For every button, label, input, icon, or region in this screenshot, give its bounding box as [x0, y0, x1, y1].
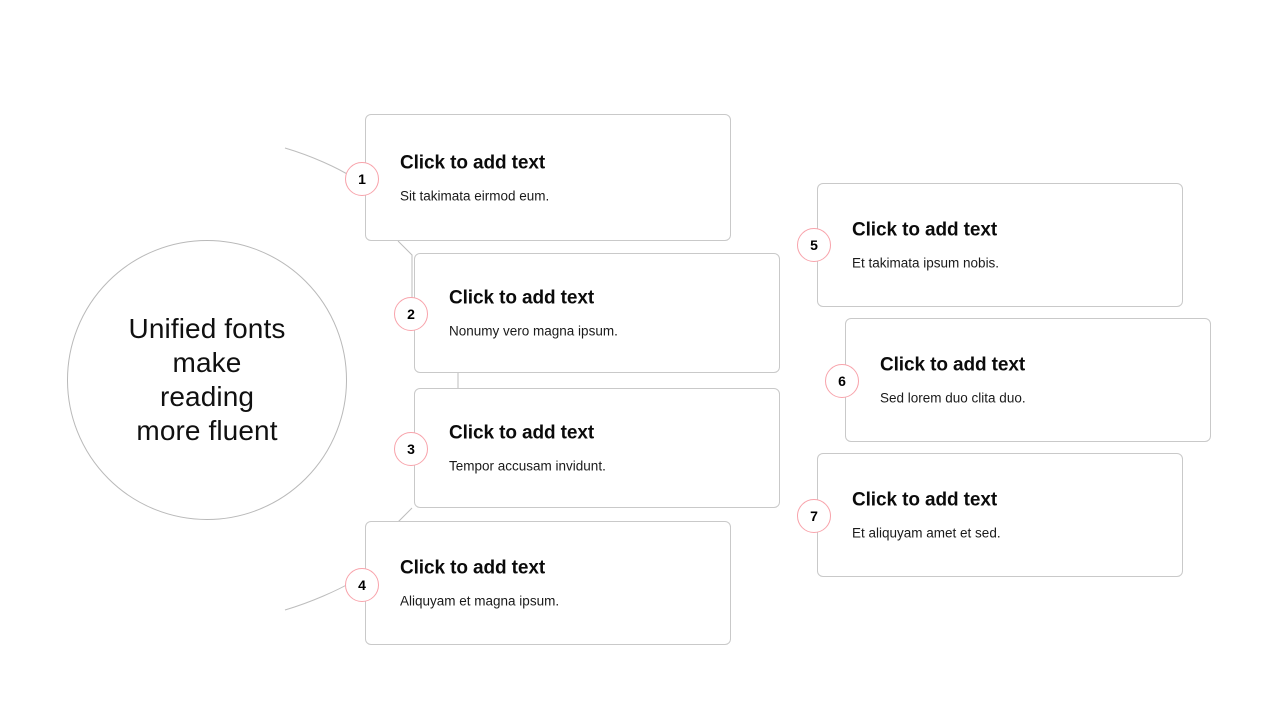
content-card-4[interactable]: Click to add text Aliquyam et magna ipsu…: [365, 521, 731, 645]
step-badge-6-number: 6: [838, 374, 846, 388]
content-card-6-title[interactable]: Click to add text: [880, 354, 1196, 377]
step-badge-6[interactable]: 6: [825, 364, 859, 398]
step-badge-1-number: 1: [358, 172, 366, 186]
content-card-4-body: Click to add text Aliquyam et magna ipsu…: [400, 557, 716, 610]
content-card-2-body: Click to add text Nonumy vero magna ipsu…: [449, 287, 765, 340]
slide-canvas: Unified fonts make reading more fluent C…: [0, 0, 1280, 720]
content-card-7-body: Click to add text Et aliquyam amet et se…: [852, 489, 1168, 542]
card-1-to-card-2: [398, 241, 412, 300]
content-card-5-description[interactable]: Et takimata ipsum nobis.: [852, 255, 1168, 272]
content-card-5-body: Click to add text Et takimata ipsum nobi…: [852, 219, 1168, 272]
step-badge-3[interactable]: 3: [394, 432, 428, 466]
step-badge-7-number: 7: [810, 509, 818, 523]
content-card-2[interactable]: Click to add text Nonumy vero magna ipsu…: [414, 253, 780, 373]
content-card-2-description[interactable]: Nonumy vero magna ipsum.: [449, 323, 765, 340]
content-card-5[interactable]: Click to add text Et takimata ipsum nobi…: [817, 183, 1183, 307]
content-card-3-body: Click to add text Tempor accusam invidun…: [449, 422, 765, 475]
central-statement-circle[interactable]: Unified fonts make reading more fluent: [67, 240, 347, 520]
content-card-7[interactable]: Click to add text Et aliquyam amet et se…: [817, 453, 1183, 577]
hub-to-card-1: [285, 148, 352, 177]
step-badge-3-number: 3: [407, 442, 415, 456]
step-badge-5-number: 5: [810, 238, 818, 252]
step-badge-5[interactable]: 5: [797, 228, 831, 262]
content-card-1-body: Click to add text Sit takimata eirmod eu…: [400, 151, 716, 204]
content-card-5-title[interactable]: Click to add text: [852, 219, 1168, 242]
content-card-6-body: Click to add text Sed lorem duo clita du…: [880, 354, 1196, 407]
central-statement-text: Unified fonts make reading more fluent: [129, 312, 286, 448]
content-card-6-description[interactable]: Sed lorem duo clita duo.: [880, 390, 1196, 407]
content-card-4-title[interactable]: Click to add text: [400, 557, 716, 580]
step-badge-1[interactable]: 1: [345, 162, 379, 196]
content-card-4-description[interactable]: Aliquyam et magna ipsum.: [400, 593, 716, 610]
content-card-1-title[interactable]: Click to add text: [400, 151, 716, 174]
content-card-3-title[interactable]: Click to add text: [449, 422, 765, 445]
step-badge-2[interactable]: 2: [394, 297, 428, 331]
content-card-7-title[interactable]: Click to add text: [852, 489, 1168, 512]
content-card-3-description[interactable]: Tempor accusam invidunt.: [449, 458, 765, 475]
step-badge-4-number: 4: [358, 578, 366, 592]
content-card-1[interactable]: Click to add text Sit takimata eirmod eu…: [365, 114, 731, 241]
step-badge-7[interactable]: 7: [797, 499, 831, 533]
step-badge-4[interactable]: 4: [345, 568, 379, 602]
content-card-3[interactable]: Click to add text Tempor accusam invidun…: [414, 388, 780, 508]
content-card-1-description[interactable]: Sit takimata eirmod eum.: [400, 187, 716, 204]
step-badge-2-number: 2: [407, 307, 415, 321]
content-card-7-description[interactable]: Et aliquyam amet et sed.: [852, 525, 1168, 542]
content-card-6[interactable]: Click to add text Sed lorem duo clita du…: [845, 318, 1211, 442]
content-card-2-title[interactable]: Click to add text: [449, 287, 765, 310]
hub-to-card-4: [285, 582, 352, 610]
